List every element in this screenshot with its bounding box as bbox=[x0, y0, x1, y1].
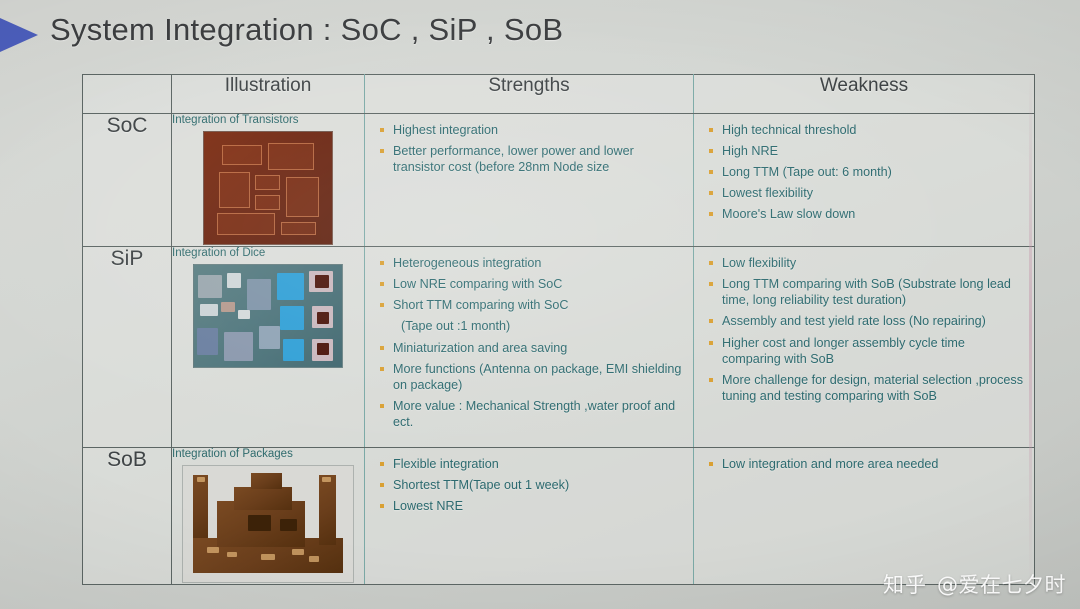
illustration-caption-sip: Integration of Dice bbox=[172, 247, 364, 259]
slide-title-row: System Integration : SoC , SiP , SoB bbox=[0, 8, 1080, 60]
list-item: Higher cost and longer assembly cycle ti… bbox=[706, 335, 1024, 367]
weakness-cell-sob: Low integration and more area needed bbox=[694, 447, 1035, 584]
illustration-cell-sob: Integration of Packages bbox=[172, 447, 365, 584]
row-label-sob: SoB bbox=[83, 447, 172, 584]
list-item: Better performance, lower power and lowe… bbox=[377, 143, 683, 175]
soc-die-photo bbox=[203, 131, 333, 245]
header-corner bbox=[83, 75, 172, 114]
illustration-cell-soc: Integration of Transistors bbox=[172, 114, 365, 247]
strengths-cell-sip: Heterogeneous integration Low NRE compar… bbox=[365, 247, 694, 448]
strengths-list-soc: Highest integration Better performance, … bbox=[365, 114, 693, 190]
list-item: High technical threshold bbox=[706, 122, 1024, 138]
list-item: High NRE bbox=[706, 143, 1024, 159]
weakness-list-sip: Low flexibility Long TTM comparing with … bbox=[694, 247, 1034, 419]
list-item: More value : Mechanical Strength ,water … bbox=[377, 398, 683, 430]
list-item: Shortest TTM(Tape out 1 week) bbox=[377, 477, 683, 493]
sip-module-photo bbox=[193, 264, 343, 368]
illustration-cell-sip: Integration of Dice bbox=[172, 247, 365, 448]
list-item: Assembly and test yield rate loss (No re… bbox=[706, 313, 1024, 329]
table-row: SoC Integration of Transistors bbox=[83, 114, 1035, 247]
list-item: Miniaturization and area saving bbox=[377, 340, 683, 356]
strengths-cell-sob: Flexible integration Shortest TTM(Tape o… bbox=[365, 447, 694, 584]
list-item: Low NRE comparing with SoC bbox=[377, 276, 683, 292]
weakness-cell-soc: High technical threshold High NRE Long T… bbox=[694, 114, 1035, 247]
table-header-row: Illustration Strengths Weakness bbox=[83, 75, 1035, 114]
row-label-soc: SoC bbox=[83, 114, 172, 247]
weakness-cell-sip: Low flexibility Long TTM comparing with … bbox=[694, 247, 1035, 448]
strengths-cell-soc: Highest integration Better performance, … bbox=[365, 114, 694, 247]
list-item: Flexible integration bbox=[377, 456, 683, 472]
weakness-list-soc: High technical threshold High NRE Long T… bbox=[694, 114, 1034, 238]
list-item: Low flexibility bbox=[706, 255, 1024, 271]
table-row: SoB Integration of Packages bbox=[83, 447, 1035, 584]
page-title: System Integration : SoC , SiP , SoB bbox=[50, 12, 563, 48]
list-item: Lowest NRE bbox=[377, 498, 683, 514]
list-item: Heterogeneous integration bbox=[377, 255, 683, 271]
slide-canvas: System Integration : SoC , SiP , SoB Ill… bbox=[0, 0, 1080, 609]
arrow-bullet-icon bbox=[0, 18, 38, 52]
list-item: Lowest flexibility bbox=[706, 185, 1024, 201]
list-item: Long TTM comparing with SoB (Substrate l… bbox=[706, 276, 1024, 308]
row-label-sip: SiP bbox=[83, 247, 172, 448]
strengths-list-sob: Flexible integration Shortest TTM(Tape o… bbox=[365, 448, 693, 529]
comparison-table: Illustration Strengths Weakness SoC Inte… bbox=[82, 74, 1035, 585]
illustration-caption-sob: Integration of Packages bbox=[172, 448, 364, 460]
list-item: More functions (Antenna on package, EMI … bbox=[377, 361, 683, 393]
list-item: More challenge for design, material sele… bbox=[706, 372, 1024, 404]
table-row: SiP Integration of Dice bbox=[83, 247, 1035, 448]
watermark-username: @爱在七夕时 bbox=[937, 569, 1066, 599]
watermark-brand: 知乎 bbox=[883, 569, 927, 599]
table-header: Illustration Strengths Weakness bbox=[83, 75, 1035, 114]
watermark: 知乎 @爱在七夕时 bbox=[883, 569, 1066, 599]
list-item: Low integration and more area needed bbox=[706, 456, 1024, 472]
header-strengths: Strengths bbox=[365, 75, 694, 114]
illustration-caption-soc: Integration of Transistors bbox=[172, 114, 364, 126]
table-body: SoC Integration of Transistors bbox=[83, 114, 1035, 585]
header-illustration: Illustration bbox=[172, 75, 365, 114]
list-item: Highest integration bbox=[377, 122, 683, 138]
strengths-list-sip: Heterogeneous integration Low NRE compar… bbox=[365, 247, 693, 445]
list-item: Long TTM (Tape out: 6 month) bbox=[706, 164, 1024, 180]
list-item: (Tape out :1 month) bbox=[377, 318, 683, 334]
sob-board-photo bbox=[182, 465, 354, 583]
list-item: Short TTM comparing with SoC bbox=[377, 297, 683, 313]
weakness-list-sob: Low integration and more area needed bbox=[694, 448, 1034, 487]
list-item: Moore's Law slow down bbox=[706, 206, 1024, 222]
header-weakness: Weakness bbox=[694, 75, 1035, 114]
